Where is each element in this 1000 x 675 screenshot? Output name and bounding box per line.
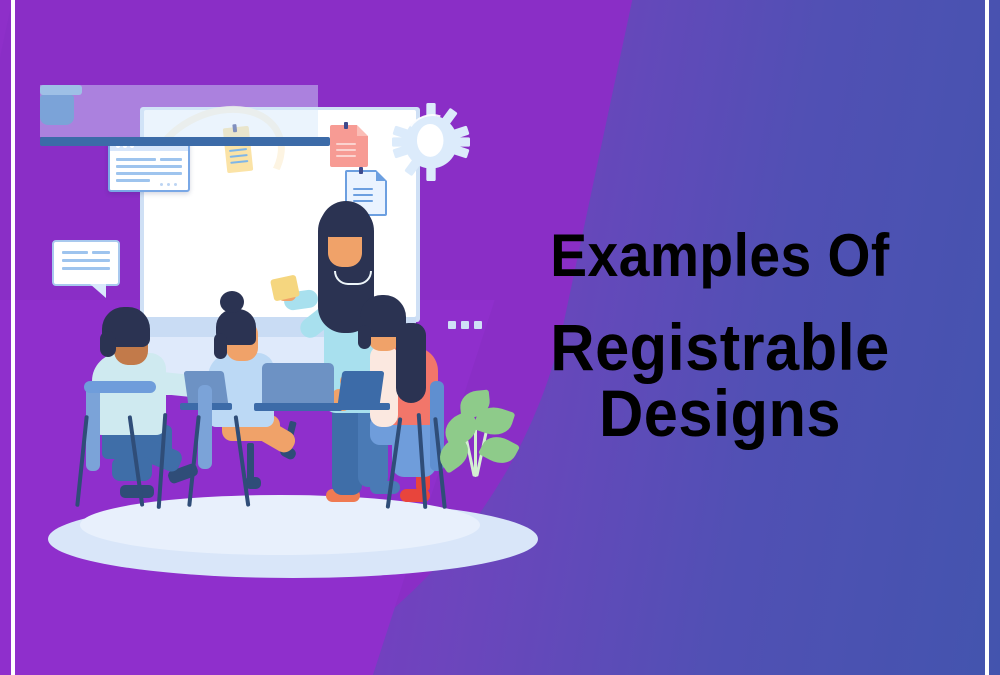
team-meeting-illustration xyxy=(40,85,540,575)
browser-window-card xyxy=(108,138,190,192)
push-pin-icon xyxy=(359,167,363,174)
push-pin-icon xyxy=(344,122,348,129)
page-title: Examples Of Registrable Designs xyxy=(470,226,970,446)
banner: Examples Of Registrable Designs xyxy=(0,0,1000,675)
speech-bubble xyxy=(52,240,120,286)
speech-bubble-tail xyxy=(90,284,106,298)
headline-line-1: Examples Of xyxy=(490,226,950,286)
left-edge-stripe xyxy=(11,0,15,675)
red-document xyxy=(330,125,368,167)
headline-line-2: Registrable Designs xyxy=(488,314,953,446)
gear-icon xyxy=(392,103,470,181)
glass-conference-table xyxy=(40,85,330,146)
monstera-plant xyxy=(40,85,82,125)
right-edge-stripe xyxy=(985,0,989,675)
